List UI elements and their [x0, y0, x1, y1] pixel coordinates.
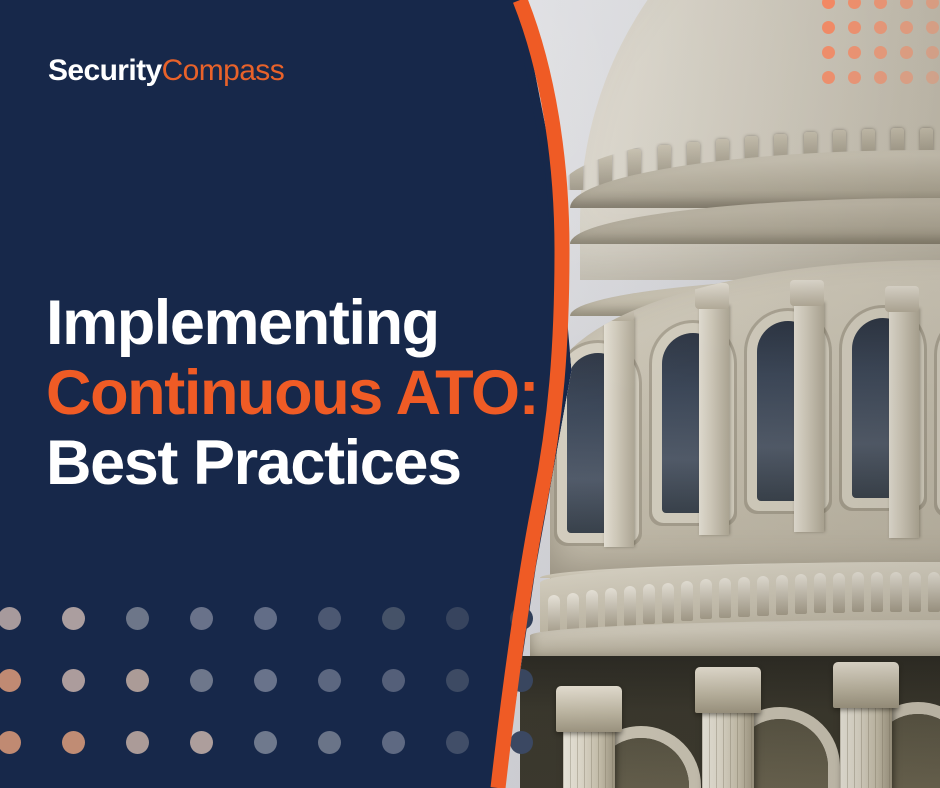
baluster	[871, 572, 883, 612]
accent-dot	[382, 731, 405, 754]
accent-dot	[900, 71, 913, 84]
dome-pilaster	[699, 305, 729, 535]
accent-dot	[848, 71, 861, 84]
page-title-line-3: Best Practices	[46, 428, 538, 498]
title-card: SecurityCompass Implementing Continuous …	[0, 0, 940, 788]
baluster	[738, 577, 750, 617]
baluster	[890, 572, 902, 612]
accent-dot	[382, 607, 405, 630]
accent-dot	[822, 71, 835, 84]
accent-dot	[318, 607, 341, 630]
accent-dot	[926, 46, 939, 59]
accent-dot	[900, 0, 913, 9]
accent-dot	[190, 607, 213, 630]
baluster	[795, 574, 807, 614]
brand-logo-compass: Compass	[162, 54, 285, 87]
accent-dot	[926, 0, 939, 9]
baluster	[719, 578, 731, 618]
accent-dot	[848, 46, 861, 59]
pilaster-capital	[695, 283, 729, 309]
accent-dot	[822, 46, 835, 59]
baluster	[928, 572, 940, 612]
accent-dot	[822, 0, 835, 9]
accent-dot	[126, 669, 149, 692]
pilaster-capital	[885, 286, 919, 312]
baluster	[643, 584, 655, 624]
accent-dot	[62, 731, 85, 754]
corinthian-capital	[556, 686, 622, 732]
accent-dot	[926, 21, 939, 34]
accent-dot	[318, 669, 341, 692]
column-peristyle	[520, 656, 940, 788]
page-title-line-1: Implementing	[46, 288, 538, 358]
baluster	[852, 572, 864, 612]
baluster	[833, 573, 845, 613]
accent-dot	[900, 21, 913, 34]
page-title: Implementing Continuous ATO: Best Practi…	[46, 288, 538, 498]
accent-dot	[510, 607, 533, 630]
accent-dot	[0, 607, 21, 630]
accent-dot	[0, 669, 21, 692]
dome-pilaster	[794, 302, 824, 532]
baluster	[909, 572, 921, 612]
dome-bracket	[570, 158, 583, 190]
baluster	[681, 581, 693, 621]
accent-dot	[446, 607, 469, 630]
accent-dot	[382, 669, 405, 692]
accent-dot	[874, 46, 887, 59]
accent-dot	[848, 21, 861, 34]
accent-dot	[254, 607, 277, 630]
accent-dot	[510, 669, 533, 692]
corinthian-column	[840, 700, 892, 788]
accent-dot	[822, 21, 835, 34]
baluster	[624, 586, 636, 626]
baluster	[567, 593, 579, 632]
corinthian-capital	[695, 667, 761, 713]
accent-dot	[848, 0, 861, 9]
accent-dot	[900, 46, 913, 59]
baluster	[700, 579, 712, 619]
accent-dot	[190, 731, 213, 754]
accent-dot	[62, 607, 85, 630]
accent-dot	[318, 731, 341, 754]
dome-drum-windows	[550, 260, 940, 590]
dome-pilaster	[604, 317, 634, 547]
baluster	[605, 588, 617, 628]
accent-dot	[446, 669, 469, 692]
accent-dot	[874, 0, 887, 9]
baluster	[814, 573, 826, 613]
corinthian-column	[702, 705, 754, 788]
baluster	[662, 583, 674, 623]
accent-dot	[874, 21, 887, 34]
brand-logo-security: Security	[48, 54, 162, 87]
accent-dot	[510, 731, 533, 754]
accent-dot	[254, 731, 277, 754]
page-title-line-2: Continuous ATO:	[46, 358, 538, 428]
baluster	[776, 575, 788, 615]
accent-dot	[126, 731, 149, 754]
baluster	[586, 590, 598, 630]
accent-dot	[926, 71, 939, 84]
accent-dot	[62, 669, 85, 692]
corinthian-capital	[833, 662, 899, 708]
accent-dot	[254, 669, 277, 692]
dome-pilaster	[889, 308, 919, 538]
accent-dot	[446, 731, 469, 754]
accent-dot	[0, 731, 21, 754]
pilaster-capital	[600, 295, 634, 321]
accent-dot	[874, 71, 887, 84]
brand-logo: SecurityCompass	[48, 54, 284, 88]
pilaster-capital	[790, 280, 824, 306]
baluster	[757, 576, 769, 616]
accent-dot	[126, 607, 149, 630]
corinthian-column	[563, 724, 615, 788]
accent-dot	[190, 669, 213, 692]
